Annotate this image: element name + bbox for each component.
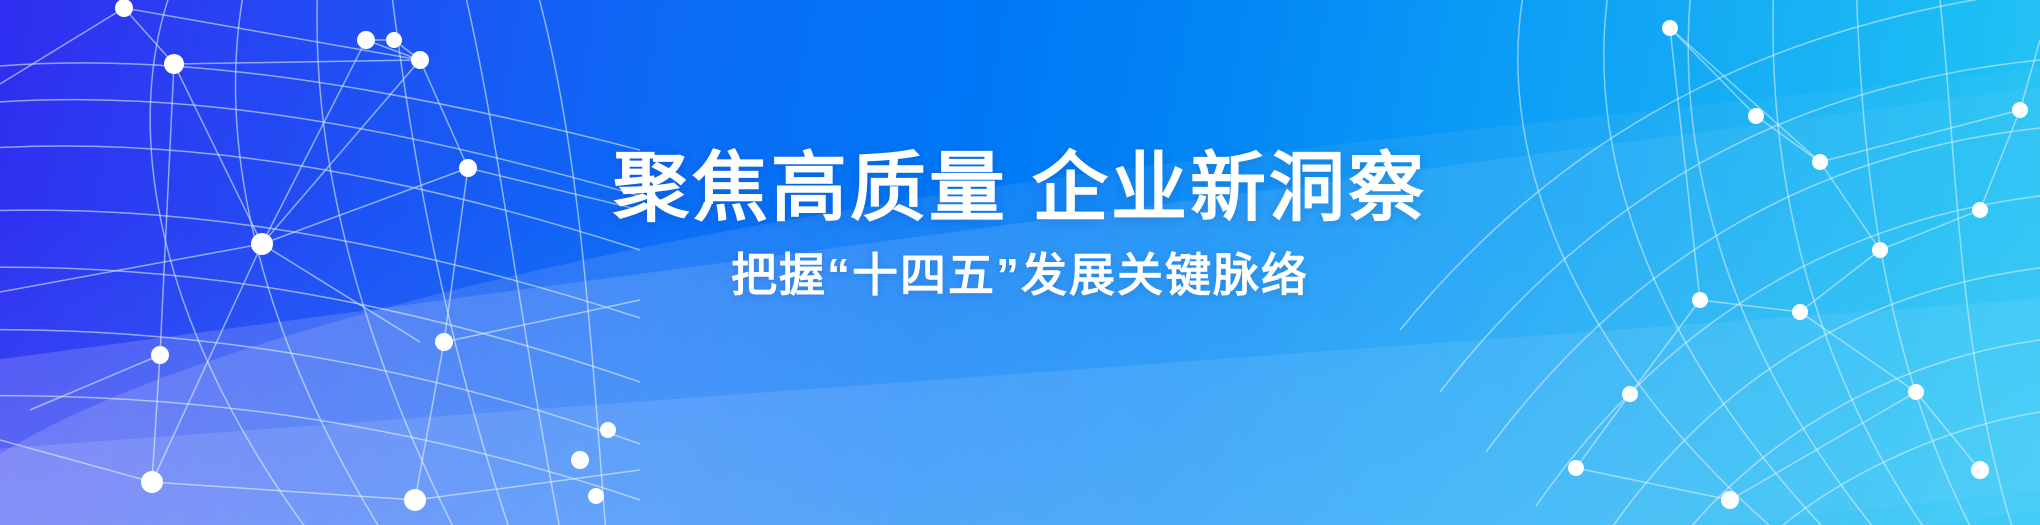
promo-banner: 聚焦高质量 企业新洞察 把握“十四五”发展关键脉络 <box>0 0 2040 525</box>
banner-headline: 聚焦高质量 企业新洞察 <box>0 150 2040 228</box>
banner-text-block: 聚焦高质量 企业新洞察 把握“十四五”发展关键脉络 <box>0 150 2040 300</box>
banner-subheadline: 把握“十四五”发展关键脉络 <box>0 250 2040 301</box>
